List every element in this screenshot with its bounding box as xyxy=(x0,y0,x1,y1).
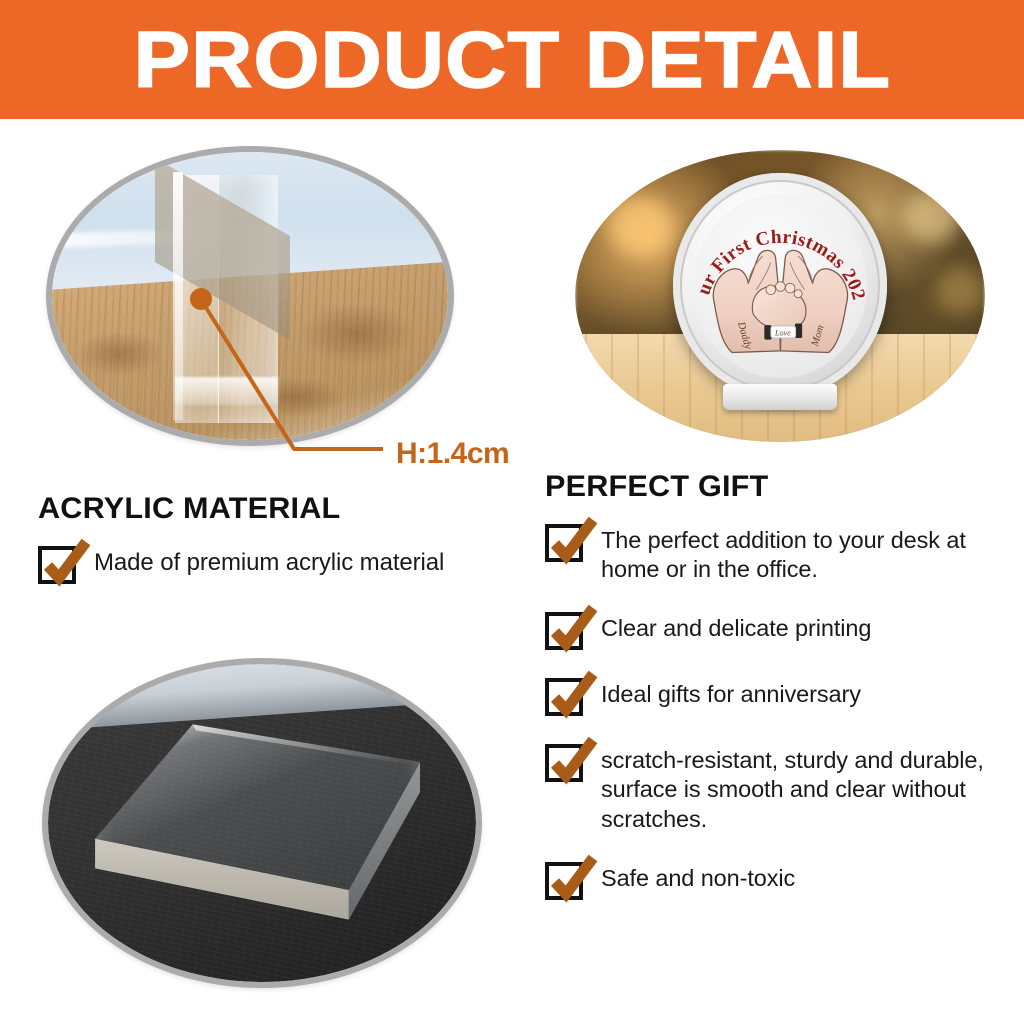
photo-clip xyxy=(52,152,448,440)
acrylic-block-body xyxy=(95,724,420,921)
checkbox-checked-icon xyxy=(545,612,583,650)
feature-text: Safe and non-toxic xyxy=(601,860,795,893)
feature-text: Made of premium acrylic material xyxy=(94,544,444,578)
height-callout-label: H:1.4cm xyxy=(396,437,509,471)
checkbox-checked-icon xyxy=(38,546,76,584)
checkmark-icon xyxy=(547,734,599,786)
svg-text:Our First Christmas 2025: Our First Christmas 2025 xyxy=(693,194,868,303)
feature-text: Clear and delicate printing xyxy=(601,610,871,643)
section-heading-acrylic-material: ACRYLIC MATERIAL xyxy=(38,492,528,526)
callout-dot-icon xyxy=(190,288,212,310)
plaque-stand xyxy=(723,384,838,410)
page-title: PRODUCT DETAIL xyxy=(133,20,891,100)
checkmark-icon xyxy=(547,668,599,720)
feature-text: The perfect addition to your desk at hom… xyxy=(601,522,1015,584)
wood-grain-knot xyxy=(298,302,417,365)
checkmark-icon xyxy=(547,602,599,654)
section-heading-perfect-gift: PERFECT GIFT xyxy=(545,470,1024,504)
acrylic-base-highlight xyxy=(175,377,278,406)
feature-item: The perfect addition to your desk at hom… xyxy=(545,522,1015,584)
checkbox-checked-icon xyxy=(545,744,583,782)
feature-item: Safe and non-toxic xyxy=(545,860,1015,900)
feature-text: scratch-resistant, sturdy and durable, s… xyxy=(601,742,1015,833)
feature-item: scratch-resistant, sturdy and durable, s… xyxy=(545,742,1015,833)
feature-text: Ideal gifts for anniversary xyxy=(601,676,861,709)
checkmark-icon xyxy=(547,514,599,566)
section-acrylic-material: ACRYLIC MATERIAL Made of premium acrylic… xyxy=(38,492,518,610)
feature-item: Ideal gifts for anniversary xyxy=(545,676,1015,716)
photo-clip xyxy=(48,664,476,982)
plaque-title-text: Our First Christmas 2025 xyxy=(693,194,868,303)
bokeh-light xyxy=(936,267,985,314)
checkmark-icon xyxy=(40,536,92,588)
feature-item: Clear and delicate printing xyxy=(545,610,1015,650)
bokeh-light xyxy=(608,197,674,255)
product-photo-acrylic-edge xyxy=(46,146,454,446)
photo-clip: Love Daddy Mom Our First Christmas 2025 xyxy=(575,150,985,442)
wood-grain-knot xyxy=(76,331,163,377)
plaque-print-area: Love Daddy Mom Our First Christmas 2025 xyxy=(693,194,868,378)
checkmark-icon xyxy=(547,852,599,904)
section-perfect-gift: PERFECT GIFT The perfect addition to you… xyxy=(545,470,1015,926)
product-photo-acrylic-block xyxy=(42,658,482,988)
header-banner: PRODUCT DETAIL xyxy=(0,0,1024,119)
product-photo-plaque: Love Daddy Mom Our First Christmas 2025 xyxy=(575,150,985,442)
checkbox-checked-icon xyxy=(545,678,583,716)
checkbox-checked-icon xyxy=(545,524,583,562)
feature-item: Made of premium acrylic material xyxy=(38,544,518,584)
checkbox-checked-icon xyxy=(545,862,583,900)
acrylic-plaque: Love Daddy Mom Our First Christmas 2025 xyxy=(673,173,886,398)
plaque-arc-title: Our First Christmas 2025 xyxy=(693,194,868,378)
